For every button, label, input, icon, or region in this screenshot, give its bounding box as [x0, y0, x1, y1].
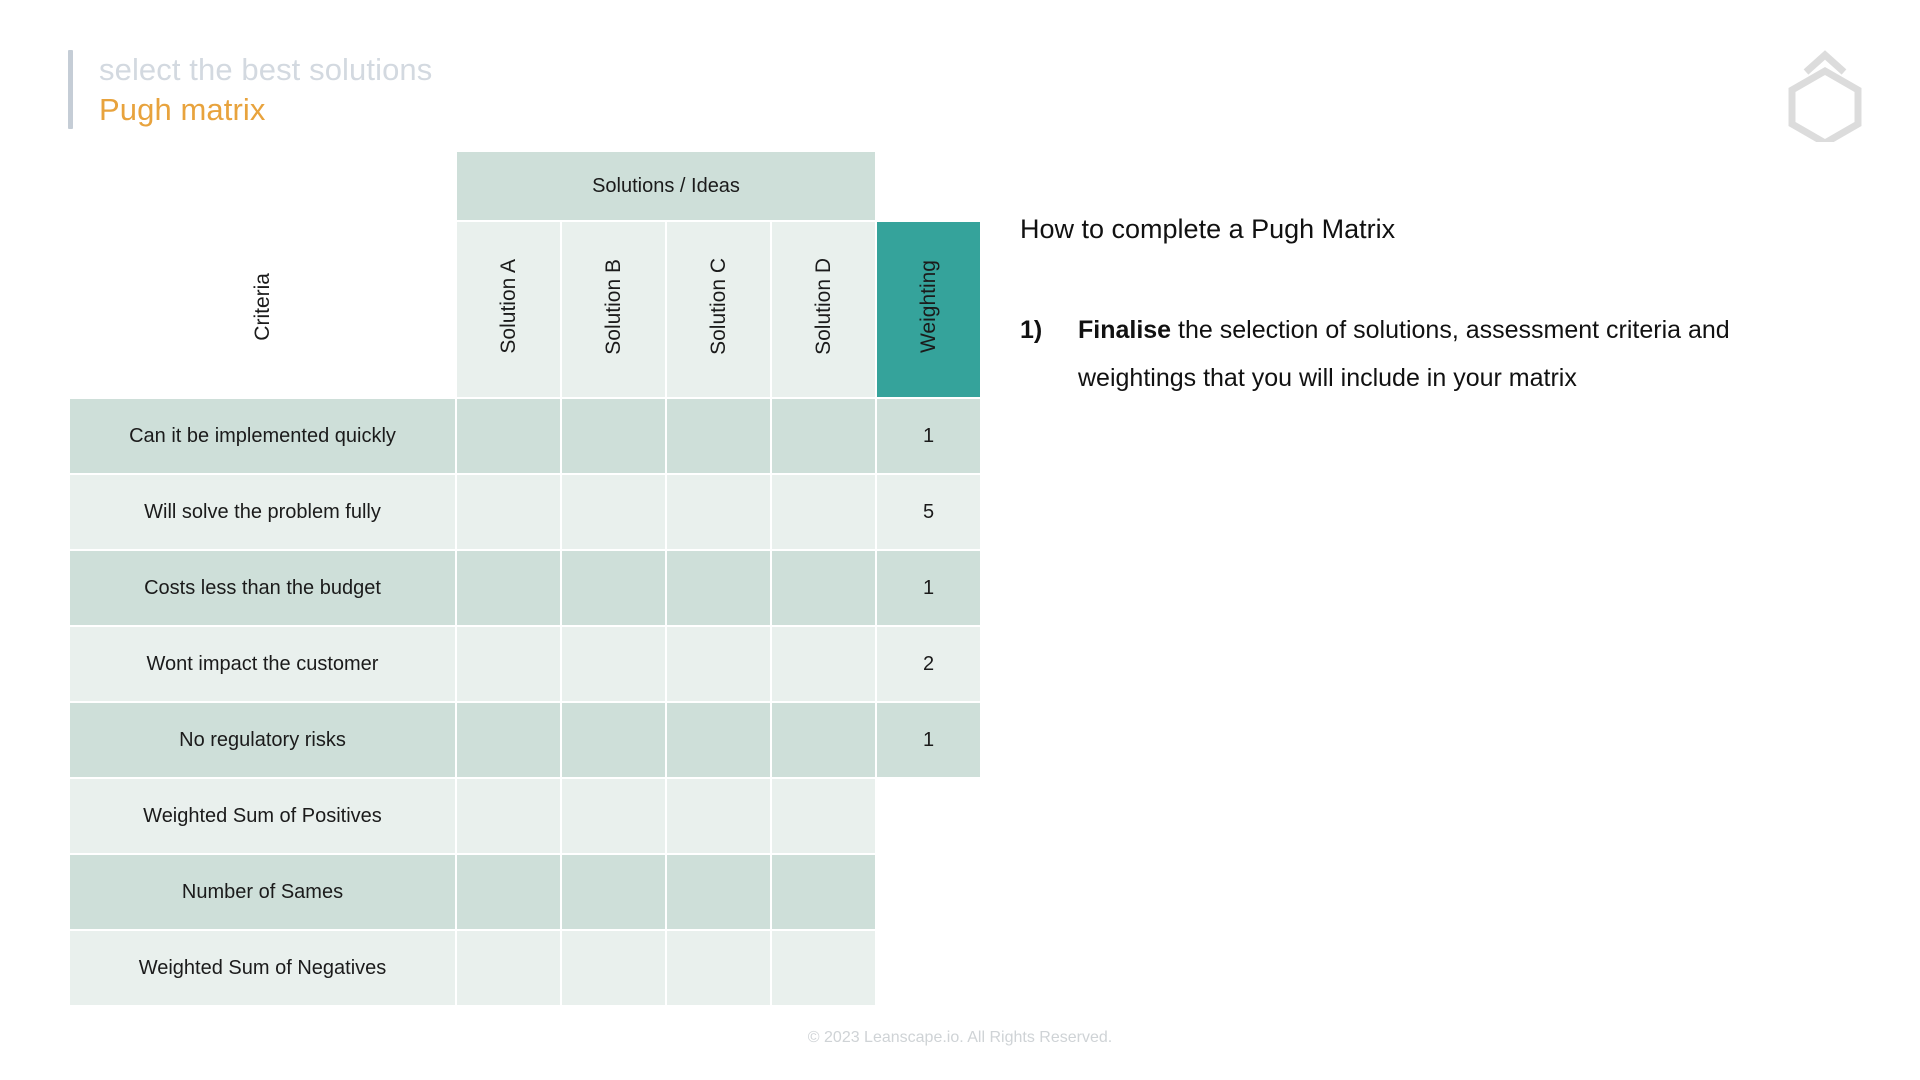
- score-cell-a[interactable]: [457, 627, 560, 701]
- table-row: Can it be implemented quickly 1: [70, 399, 980, 473]
- table-row: Wont impact the customer 2: [70, 627, 980, 701]
- score-cell-a[interactable]: [457, 551, 560, 625]
- instruction-step-1-number: 1): [1020, 307, 1078, 355]
- score-cell-b[interactable]: [562, 627, 665, 701]
- footer-copyright: © 2023 Leanscape.io. All Rights Reserved…: [0, 1029, 1920, 1047]
- summary-cell-d[interactable]: [772, 855, 875, 929]
- column-header-weighting[interactable]: Weighting: [877, 222, 980, 397]
- table-row: No regulatory risks 1: [70, 703, 980, 777]
- table-row: Weighted Sum of Positives: [70, 779, 980, 853]
- instruction-step-1-bold-lead: Finalise: [1078, 316, 1171, 344]
- instructions-heading: How to complete a Pugh Matrix: [1020, 212, 1830, 247]
- criteria-column-header-label: Criteria: [252, 273, 273, 341]
- score-cell-c[interactable]: [667, 703, 770, 777]
- summary-cell-c[interactable]: [667, 855, 770, 929]
- summary-weight-spacer: [877, 855, 980, 929]
- summary-cell-d[interactable]: [772, 779, 875, 853]
- summary-cell-b[interactable]: [562, 931, 665, 1005]
- table-row: Weighted Sum of Negatives: [70, 931, 980, 1005]
- score-cell-a[interactable]: [457, 399, 560, 473]
- summary-cell-b[interactable]: [562, 779, 665, 853]
- slide-root: select the best solutions Pugh matrix So…: [0, 0, 1920, 1080]
- weighting-value[interactable]: 1: [877, 703, 980, 777]
- score-cell-c[interactable]: [667, 551, 770, 625]
- pugh-matrix-table: Solutions / Ideas Criteria Solution A So…: [68, 150, 982, 1007]
- summary-label: Number of Sames: [70, 855, 455, 929]
- title-texts: select the best solutions Pugh matrix: [99, 50, 432, 129]
- weighting-value[interactable]: 2: [877, 627, 980, 701]
- title-kicker: select the best solutions: [99, 50, 432, 90]
- summary-label: Weighted Sum of Positives: [70, 779, 455, 853]
- summary-weight-spacer: [877, 931, 980, 1005]
- summary-cell-b[interactable]: [562, 855, 665, 929]
- score-cell-d[interactable]: [772, 703, 875, 777]
- column-header-solution-d[interactable]: Solution D: [772, 222, 875, 397]
- criteria-label: Can it be implemented quickly: [70, 399, 455, 473]
- score-cell-b[interactable]: [562, 703, 665, 777]
- score-cell-c[interactable]: [667, 475, 770, 549]
- score-cell-a[interactable]: [457, 703, 560, 777]
- criteria-label: Costs less than the budget: [70, 551, 455, 625]
- hexagon-logo: [1782, 46, 1868, 142]
- solutions-group-header: Solutions / Ideas: [457, 152, 875, 220]
- weighting-value[interactable]: 1: [877, 551, 980, 625]
- criteria-column-header: Criteria: [70, 222, 455, 397]
- group-header-row: Solutions / Ideas: [70, 152, 980, 220]
- column-header-solution-b-label: Solution B: [603, 259, 624, 355]
- score-cell-a[interactable]: [457, 475, 560, 549]
- criteria-label: Will solve the problem fully: [70, 475, 455, 549]
- criteria-label: Wont impact the customer: [70, 627, 455, 701]
- score-cell-d[interactable]: [772, 475, 875, 549]
- column-header-solution-a-label: Solution A: [498, 259, 519, 354]
- weighting-value[interactable]: 5: [877, 475, 980, 549]
- weighting-value[interactable]: 1: [877, 399, 980, 473]
- score-cell-c[interactable]: [667, 399, 770, 473]
- column-header-solution-c-label: Solution C: [708, 258, 729, 355]
- summary-cell-c[interactable]: [667, 779, 770, 853]
- column-header-row: Criteria Solution A Solution B Solution …: [70, 222, 980, 397]
- column-header-solution-b[interactable]: Solution B: [562, 222, 665, 397]
- score-cell-d[interactable]: [772, 551, 875, 625]
- summary-cell-a[interactable]: [457, 855, 560, 929]
- page-title: Pugh matrix: [99, 90, 432, 130]
- column-header-solution-a[interactable]: Solution A: [457, 222, 560, 397]
- column-header-solution-c[interactable]: Solution C: [667, 222, 770, 397]
- group-header-spacer: [70, 152, 455, 220]
- instruction-step-1-rest: the selection of solutions, assessment c…: [1078, 316, 1730, 392]
- page-title-block: select the best solutions Pugh matrix: [68, 50, 432, 129]
- summary-cell-c[interactable]: [667, 931, 770, 1005]
- summary-weight-spacer: [877, 779, 980, 853]
- summary-cell-a[interactable]: [457, 931, 560, 1005]
- score-cell-b[interactable]: [562, 551, 665, 625]
- table-row: Number of Sames: [70, 855, 980, 929]
- instruction-step-1: 1) Finalise the selection of solutions, …: [1020, 307, 1830, 402]
- group-header-weight-spacer: [877, 152, 980, 220]
- summary-label: Weighted Sum of Negatives: [70, 931, 455, 1005]
- pugh-matrix: Solutions / Ideas Criteria Solution A So…: [68, 150, 982, 1007]
- score-cell-d[interactable]: [772, 627, 875, 701]
- table-row: Will solve the problem fully 5: [70, 475, 980, 549]
- summary-cell-d[interactable]: [772, 931, 875, 1005]
- instruction-step-1-text: Finalise the selection of solutions, ass…: [1078, 307, 1830, 402]
- score-cell-d[interactable]: [772, 399, 875, 473]
- column-header-solution-d-label: Solution D: [813, 258, 834, 355]
- table-row: Costs less than the budget 1: [70, 551, 980, 625]
- hexagon-logo-icon: [1782, 46, 1868, 142]
- score-cell-b[interactable]: [562, 399, 665, 473]
- score-cell-c[interactable]: [667, 627, 770, 701]
- criteria-label: No regulatory risks: [70, 703, 455, 777]
- score-cell-b[interactable]: [562, 475, 665, 549]
- instructions-panel: How to complete a Pugh Matrix 1) Finalis…: [1020, 212, 1830, 402]
- column-header-weighting-label: Weighting: [918, 260, 939, 353]
- pugh-matrix-body: Solutions / Ideas Criteria Solution A So…: [70, 152, 980, 1005]
- title-accent-bar: [68, 50, 73, 129]
- summary-cell-a[interactable]: [457, 779, 560, 853]
